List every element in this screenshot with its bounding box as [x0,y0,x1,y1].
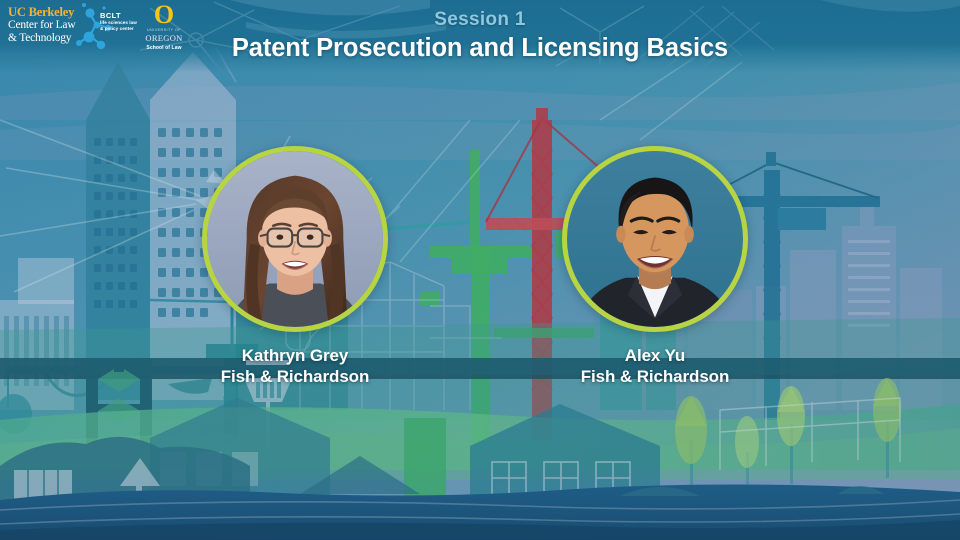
portrait-illustration [207,151,383,327]
oregon-law-logo: O UNIVERSITY OF OREGON School of Law [138,2,190,52]
speaker-affiliation: Fish & Richardson [135,366,455,387]
oregon-logo-line2: OREGON [138,33,190,43]
speaker-name: Kathryn Grey [135,345,455,366]
speaker-photo-alex-yu [562,146,748,332]
uc-berkeley-logo-line2: Center for Law [8,19,88,32]
speaker-caption-left: Kathryn Grey Fish & Richardson [135,345,455,387]
uc-berkeley-logo-line1: UC Berkeley [8,6,88,19]
oregon-o-mark: O [138,2,190,28]
portrait-illustration [567,151,743,327]
oregon-logo-line3: School of Law [138,44,190,52]
speaker-affiliation: Fish & Richardson [495,366,815,387]
logo-bar: UC Berkeley Center for Law & Technology … [0,0,193,52]
speaker-photo-kathryn-grey [202,146,388,332]
uc-berkeley-logo: UC Berkeley Center for Law & Technology [8,6,88,44]
speaker-name: Alex Yu [495,345,815,366]
uc-berkeley-logo-line3: & Technology [8,32,88,45]
speaker-caption-right: Alex Yu Fish & Richardson [495,345,815,387]
background-cityscape-illustration [0,0,960,540]
session-title-slide: Kathryn Grey Fish & Richardson Alex Yu F… [0,0,960,540]
